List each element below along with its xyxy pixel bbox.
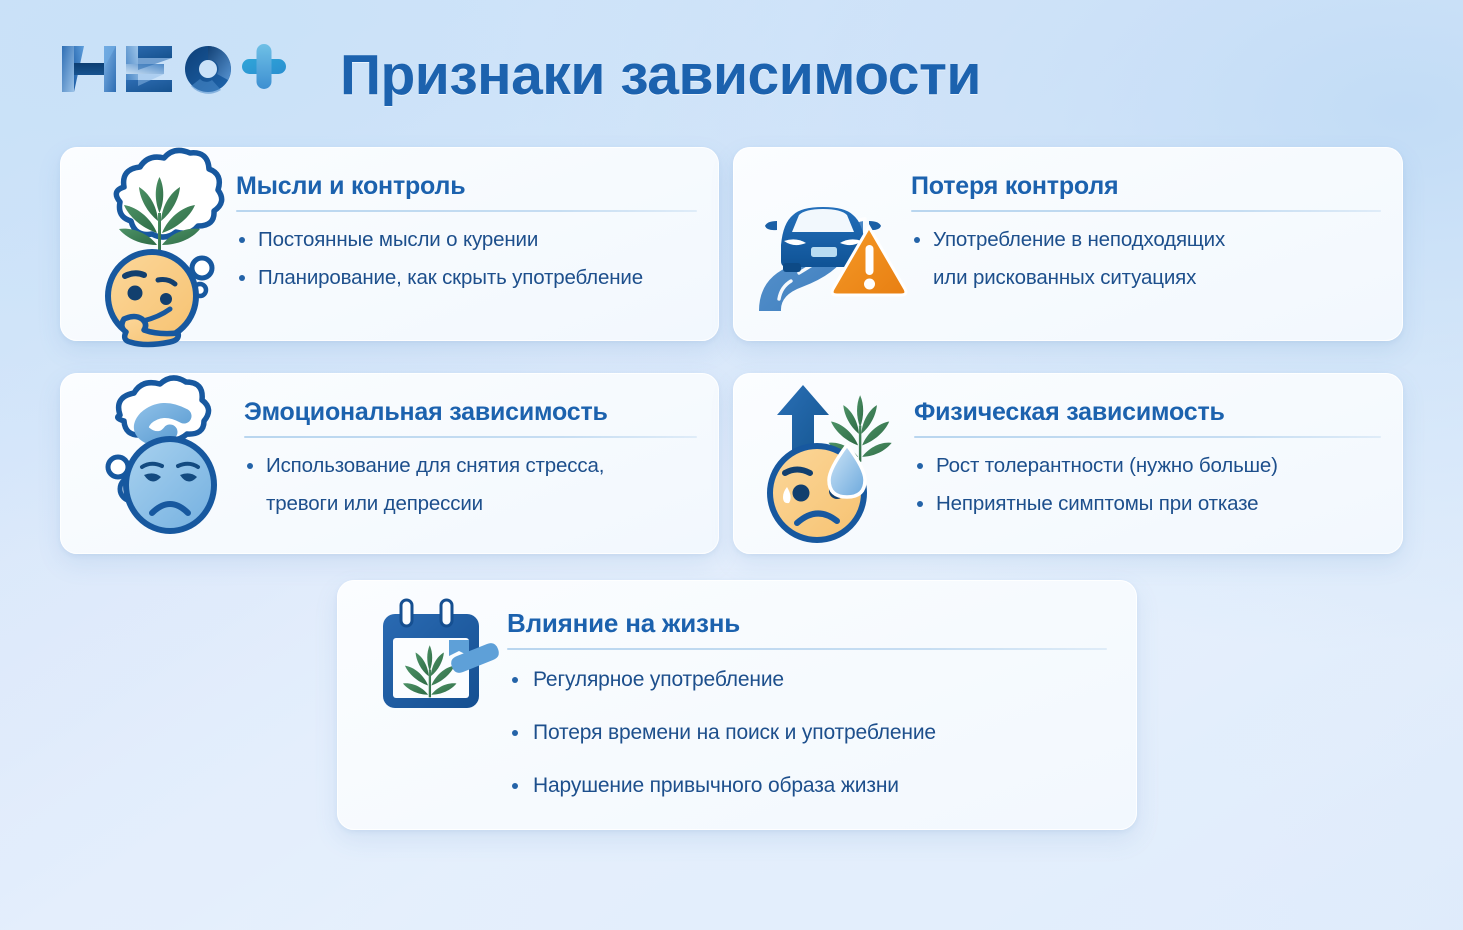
infographic-page: Признаки зависимости [0, 0, 1463, 930]
bullet-dot-icon [247, 463, 253, 469]
bullet-dot-icon [914, 237, 920, 243]
list-item: Рост толерантности (нужно больше) [914, 452, 1381, 480]
list-item: Нарушение привычного образа жизни [507, 772, 1107, 801]
card-body: Физическая зависимость Рост толерантност… [914, 373, 1403, 518]
bullet-text: или рискованных ситуациях [933, 266, 1196, 289]
bullet-text: Использование для снятия стресса, [266, 454, 604, 477]
list-item: Планирование, как скрыть употребление [236, 264, 697, 292]
title-divider [236, 210, 697, 212]
bullet-text: Рост толерантности (нужно больше) [936, 454, 1278, 477]
header: Признаки зависимости [0, 0, 1463, 140]
list-item: Потеря времени на поиск и употребление [507, 719, 1107, 748]
card-body: Потеря контроля Употребление в неподходя… [911, 147, 1403, 292]
bullet-dot-icon [917, 501, 923, 507]
bullet-text: Нарушение привычного образа жизни [533, 774, 899, 797]
title-divider [507, 648, 1107, 650]
list-item: Постоянные мысли о курении [236, 226, 697, 254]
card-title: Физическая зависимость [914, 399, 1381, 425]
card-title: Влияние на жизнь [507, 610, 1107, 637]
list-item-continuation: тревоги или депрессии [244, 490, 697, 518]
card-body: Эмоциональная зависимость Использование … [244, 373, 719, 518]
car-on-road-with-warning-triangle-icon [751, 159, 911, 319]
card-title: Потеря контроля [911, 173, 1381, 199]
card-emotional-dependence: Эмоциональная зависимость Использование … [60, 373, 719, 554]
bullet-dot-icon [239, 275, 245, 281]
bullet-list: Употребление в неподходящих или рискован… [911, 226, 1381, 292]
list-item: Использование для снятия стресса, [244, 452, 697, 480]
page-title: Признаки зависимости [340, 42, 981, 108]
bullet-text: Потеря времени на поиск и употребление [533, 721, 936, 744]
title-divider [914, 436, 1381, 438]
anxious-sweating-face-with-up-arrow-and-cannabis-icon [759, 381, 914, 546]
neo-plus-logo [60, 38, 290, 100]
thinking-face-with-cannabis-thought-bubble-icon [84, 157, 236, 342]
bullet-list: Регулярное употребление Потеря времени н… [507, 666, 1107, 801]
bullet-text: Постоянные мысли о курении [258, 228, 538, 251]
bullet-dot-icon [512, 677, 518, 683]
card-physical-dependence: Физическая зависимость Рост толерантност… [733, 373, 1403, 554]
bullet-dot-icon [512, 730, 518, 736]
list-item-continuation: или рискованных ситуациях [911, 264, 1381, 292]
list-item: Неприятные симптомы при отказе [914, 490, 1381, 518]
card-loss-of-control: Потеря контроля Употребление в неподходя… [733, 147, 1403, 341]
bullet-text: Планирование, как скрыть употребление [258, 266, 643, 289]
bullet-dot-icon [512, 783, 518, 789]
card-impact-on-life: Влияние на жизнь Регулярное употребление… [337, 580, 1137, 830]
card-title: Мысли и контроль [236, 173, 697, 199]
bullet-list: Рост толерантности (нужно больше) Неприя… [914, 452, 1381, 518]
bullet-text: Регулярное употребление [533, 668, 784, 691]
calendar-with-cannabis-leaf-icon [377, 598, 507, 723]
bullet-text: тревоги или депрессии [266, 492, 483, 515]
card-body: Влияние на жизнь Регулярное употребление… [507, 580, 1137, 825]
bullet-list: Использование для снятия стресса, тревог… [244, 452, 697, 518]
bullet-text: Употребление в неподходящих [933, 228, 1225, 251]
bullet-dot-icon [239, 237, 245, 243]
title-divider [911, 210, 1381, 212]
bullet-dot-icon [917, 463, 923, 469]
sad-face-with-thought-cloud-icon [92, 381, 244, 546]
list-item: Употребление в неподходящих [911, 226, 1381, 254]
card-body: Мысли и контроль Постоянные мысли о куре… [236, 147, 719, 292]
card-title: Эмоциональная зависимость [244, 399, 697, 425]
title-divider [244, 436, 697, 438]
bullet-text: Неприятные симптомы при отказе [936, 492, 1258, 515]
bullet-list: Постоянные мысли о курении Планирование,… [236, 226, 697, 292]
list-item: Регулярное употребление [507, 666, 1107, 695]
card-thoughts-and-control: Мысли и контроль Постоянные мысли о куре… [60, 147, 719, 341]
